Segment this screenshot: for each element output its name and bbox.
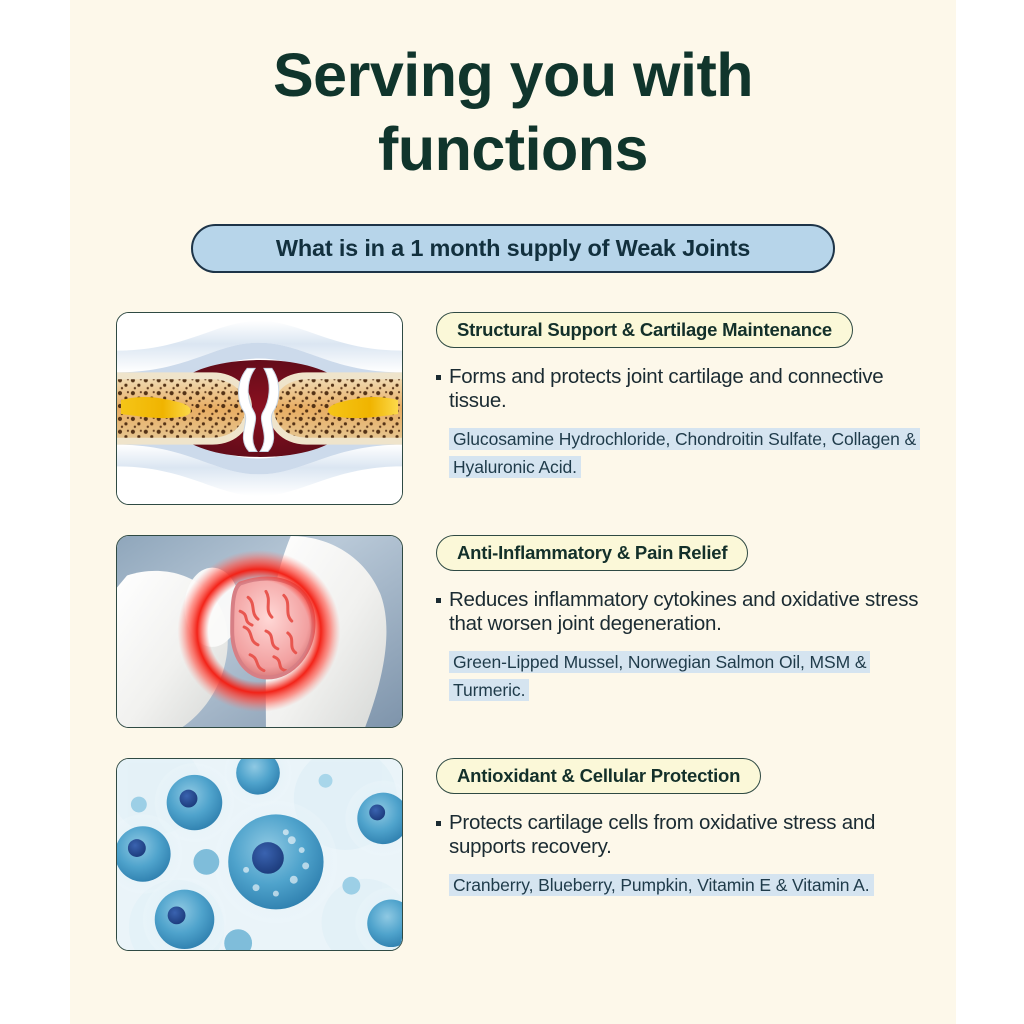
stained-cells-microscopy [116, 758, 403, 951]
section-title-label: Anti-Inflammatory & Pain Relief [457, 542, 727, 564]
bullet-marker-icon [436, 598, 441, 603]
page-title-line-2: functions [70, 112, 956, 186]
benefit-label: Forms and protects joint cartilage and c… [449, 365, 883, 412]
section-body: Structural Support & Cartilage Maintenan… [436, 312, 946, 481]
inflamed-joint-3d-render [116, 535, 403, 728]
ingredient-list: Glucosamine Hydrochloride, Chondroitin S… [449, 425, 919, 482]
infographic-page: Serving you with functions What is in a … [0, 0, 1024, 1024]
page-title-line-1: Serving you with [70, 38, 956, 112]
benefit-text: Protects cartilage cells from oxidative … [436, 811, 946, 859]
bullet-marker-icon [436, 821, 441, 826]
section-title-badge: Anti-Inflammatory & Pain Relief [436, 535, 748, 571]
benefit-section-anti-inflammatory: Anti-Inflammatory & Pain Relief Reduces … [116, 535, 946, 731]
section-body: Antioxidant & Cellular Protection Protec… [436, 758, 946, 899]
benefit-label: Reduces inflammatory cytokines and oxida… [449, 588, 918, 635]
section-title-label: Antioxidant & Cellular Protection [457, 765, 740, 787]
section-body: Anti-Inflammatory & Pain Relief Reduces … [436, 535, 946, 704]
ingredient-list-label: Green-Lipped Mussel, Norwegian Salmon Oi… [449, 651, 870, 701]
subtitle-badge: What is in a 1 month supply of Weak Join… [191, 224, 835, 273]
section-title-badge: Antioxidant & Cellular Protection [436, 758, 761, 794]
benefit-section-antioxidant: Antioxidant & Cellular Protection Protec… [116, 758, 946, 954]
section-title-label: Structural Support & Cartilage Maintenan… [457, 319, 832, 341]
benefit-section-structural-support: Structural Support & Cartilage Maintenan… [116, 312, 946, 508]
joint-cross-section-illustration [116, 312, 403, 505]
bullet-marker-icon [436, 375, 441, 380]
benefit-label: Protects cartilage cells from oxidative … [449, 811, 875, 858]
ingredient-list: Cranberry, Blueberry, Pumpkin, Vitamin E… [449, 871, 919, 899]
page-title: Serving you with functions [70, 38, 956, 187]
section-title-badge: Structural Support & Cartilage Maintenan… [436, 312, 853, 348]
ingredient-list-label: Glucosamine Hydrochloride, Chondroitin S… [449, 428, 920, 478]
subtitle-badge-label: What is in a 1 month supply of Weak Join… [276, 235, 750, 262]
ingredient-list: Green-Lipped Mussel, Norwegian Salmon Oi… [449, 648, 919, 705]
ingredient-list-label: Cranberry, Blueberry, Pumpkin, Vitamin E… [449, 874, 874, 896]
benefit-text: Forms and protects joint cartilage and c… [436, 365, 946, 413]
benefit-text: Reduces inflammatory cytokines and oxida… [436, 588, 946, 636]
